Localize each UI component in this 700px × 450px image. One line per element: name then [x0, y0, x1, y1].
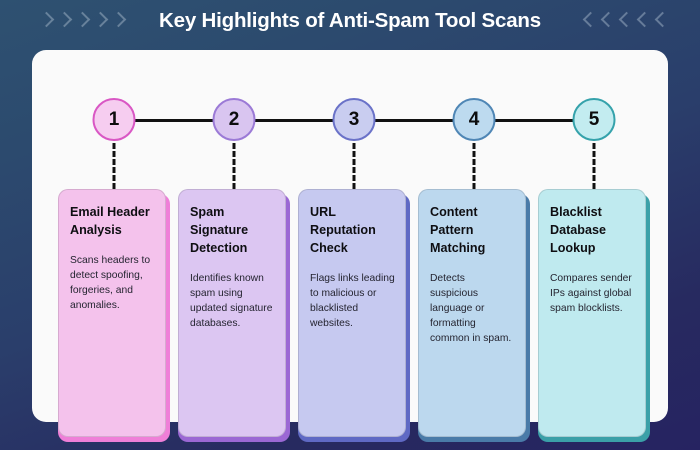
- step-connector-dashed-line: [353, 143, 356, 189]
- header-bar: Key Highlights of Anti-Spam Tool Scans: [0, 0, 700, 42]
- step-card[interactable]: Blacklist Database LookupCompares sender…: [538, 189, 646, 437]
- step-connector-dashed-line: [473, 143, 476, 189]
- step-card-description: Scans headers to detect spoofing, forger…: [70, 253, 155, 313]
- chevron-left-icon: [618, 10, 634, 32]
- chevron-right-icon: [56, 10, 72, 32]
- step-card-description: Identifies known spam using updated sign…: [190, 271, 275, 331]
- step-connector-dashed-line: [593, 143, 596, 189]
- step-card[interactable]: Content Pattern MatchingDetects suspicio…: [418, 189, 526, 437]
- step-card-title: URL Reputation Check: [310, 204, 395, 258]
- chevron-left-icon: [636, 10, 652, 32]
- chevron-left-decoration-right: [582, 10, 670, 32]
- chevron-right-icon: [110, 10, 126, 32]
- step-card-title: Spam Signature Detection: [190, 204, 275, 258]
- step-connector-dashed-line: [113, 143, 116, 189]
- chevron-right-decoration-left: [38, 10, 126, 32]
- step-card-title: Blacklist Database Lookup: [550, 204, 635, 258]
- step-card-title: Email Header Analysis: [70, 204, 155, 240]
- step-number-badge[interactable]: 2: [213, 98, 256, 141]
- chevron-left-icon: [654, 10, 670, 32]
- step-number-badge[interactable]: 3: [333, 98, 376, 141]
- chevron-left-icon: [600, 10, 616, 32]
- step-card-description: Detects suspicious language or formattin…: [430, 271, 515, 346]
- step-connector-dashed-line: [233, 143, 236, 189]
- step-card-description: Flags links leading to malicious or blac…: [310, 271, 395, 331]
- step-number-badge[interactable]: 5: [573, 98, 616, 141]
- steps-container: Email Header AnalysisScans headers to de…: [50, 50, 650, 422]
- step-card[interactable]: URL Reputation CheckFlags links leading …: [298, 189, 406, 437]
- step-number-badge[interactable]: 4: [453, 98, 496, 141]
- step-number-badge[interactable]: 1: [93, 98, 136, 141]
- chevron-right-icon: [92, 10, 108, 32]
- chevron-left-icon: [582, 10, 598, 32]
- step-card[interactable]: Spam Signature DetectionIdentifies known…: [178, 189, 286, 437]
- step-card-title: Content Pattern Matching: [430, 204, 515, 258]
- chevron-right-icon: [74, 10, 90, 32]
- step-card[interactable]: Email Header AnalysisScans headers to de…: [58, 189, 166, 437]
- page-title: Key Highlights of Anti-Spam Tool Scans: [159, 9, 541, 33]
- chevron-right-icon: [38, 10, 54, 32]
- step-card-description: Compares sender IPs against global spam …: [550, 271, 635, 316]
